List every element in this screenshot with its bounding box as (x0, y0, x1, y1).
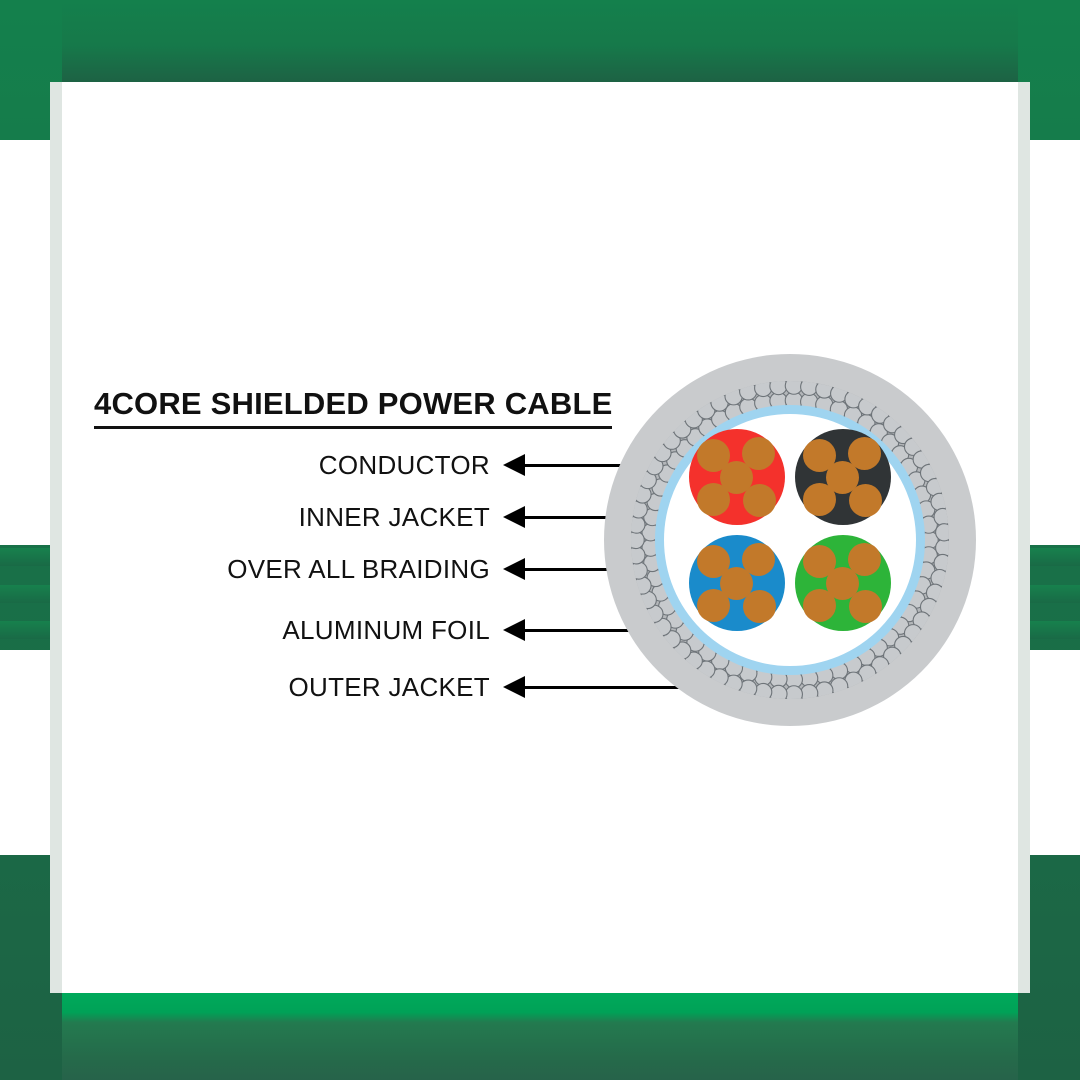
frame-top-band (0, 0, 1080, 82)
callout-label-over-all-braiding: OVER ALL BRAIDING (227, 554, 490, 585)
conductor-strand (697, 589, 730, 622)
frame-left-notch-lower (0, 650, 52, 855)
frame-right-notch-upper (1028, 140, 1080, 545)
core-black (795, 429, 891, 525)
arrowhead-icon (503, 454, 525, 476)
arrowhead-icon (503, 558, 525, 580)
accent-stripe-left-1 (0, 548, 52, 566)
page-title: 4CORE SHIELDED POWER CABLE (94, 386, 612, 429)
conductor-strand (743, 484, 776, 517)
callout-label-outer-jacket: OUTER JACKET (288, 672, 490, 703)
callout-label-aluminum-foil: ALUMINUM FOIL (282, 615, 490, 646)
accent-stripe-right-1 (1028, 548, 1080, 566)
conductor-strand (803, 589, 836, 622)
poster-canvas: 4CORE SHIELDED POWER CABLE CONDUCTOR INN… (0, 0, 1080, 1080)
accent-stripe-left-2 (0, 585, 52, 603)
core-green (795, 535, 891, 631)
conductor-strand (697, 483, 730, 516)
conductor-strand (743, 590, 776, 623)
arrowhead-icon (503, 676, 525, 698)
callout-label-conductor: CONDUCTOR (319, 450, 490, 481)
core-blue (689, 535, 785, 631)
callout-inner-jacket: INNER JACKET (90, 502, 490, 532)
frame-right-notch-lower (1028, 650, 1080, 855)
panel-seam-right (1018, 82, 1030, 993)
arrowhead-icon (503, 619, 525, 641)
callout-over-all-braiding: OVER ALL BRAIDING (90, 554, 490, 584)
callout-outer-jacket: OUTER JACKET (90, 672, 490, 702)
callout-aluminum-foil: ALUMINUM FOIL (90, 615, 490, 645)
core-red (689, 429, 785, 525)
conductor-strand (849, 484, 882, 517)
accent-stripe-right-3 (1028, 621, 1080, 639)
accent-stripe-right-2 (1028, 585, 1080, 603)
frame-bottom-band (0, 993, 1080, 1080)
callout-conductor: CONDUCTOR (90, 450, 490, 480)
frame-left-notch-upper (0, 140, 52, 545)
conductor-strand (849, 590, 882, 623)
cable-cross-section-diagram (604, 354, 976, 726)
arrowhead-icon (503, 506, 525, 528)
callout-label-inner-jacket: INNER JACKET (299, 502, 490, 533)
conductor-strand (803, 483, 836, 516)
panel-seam-left (50, 82, 62, 993)
accent-stripe-left-3 (0, 621, 52, 639)
